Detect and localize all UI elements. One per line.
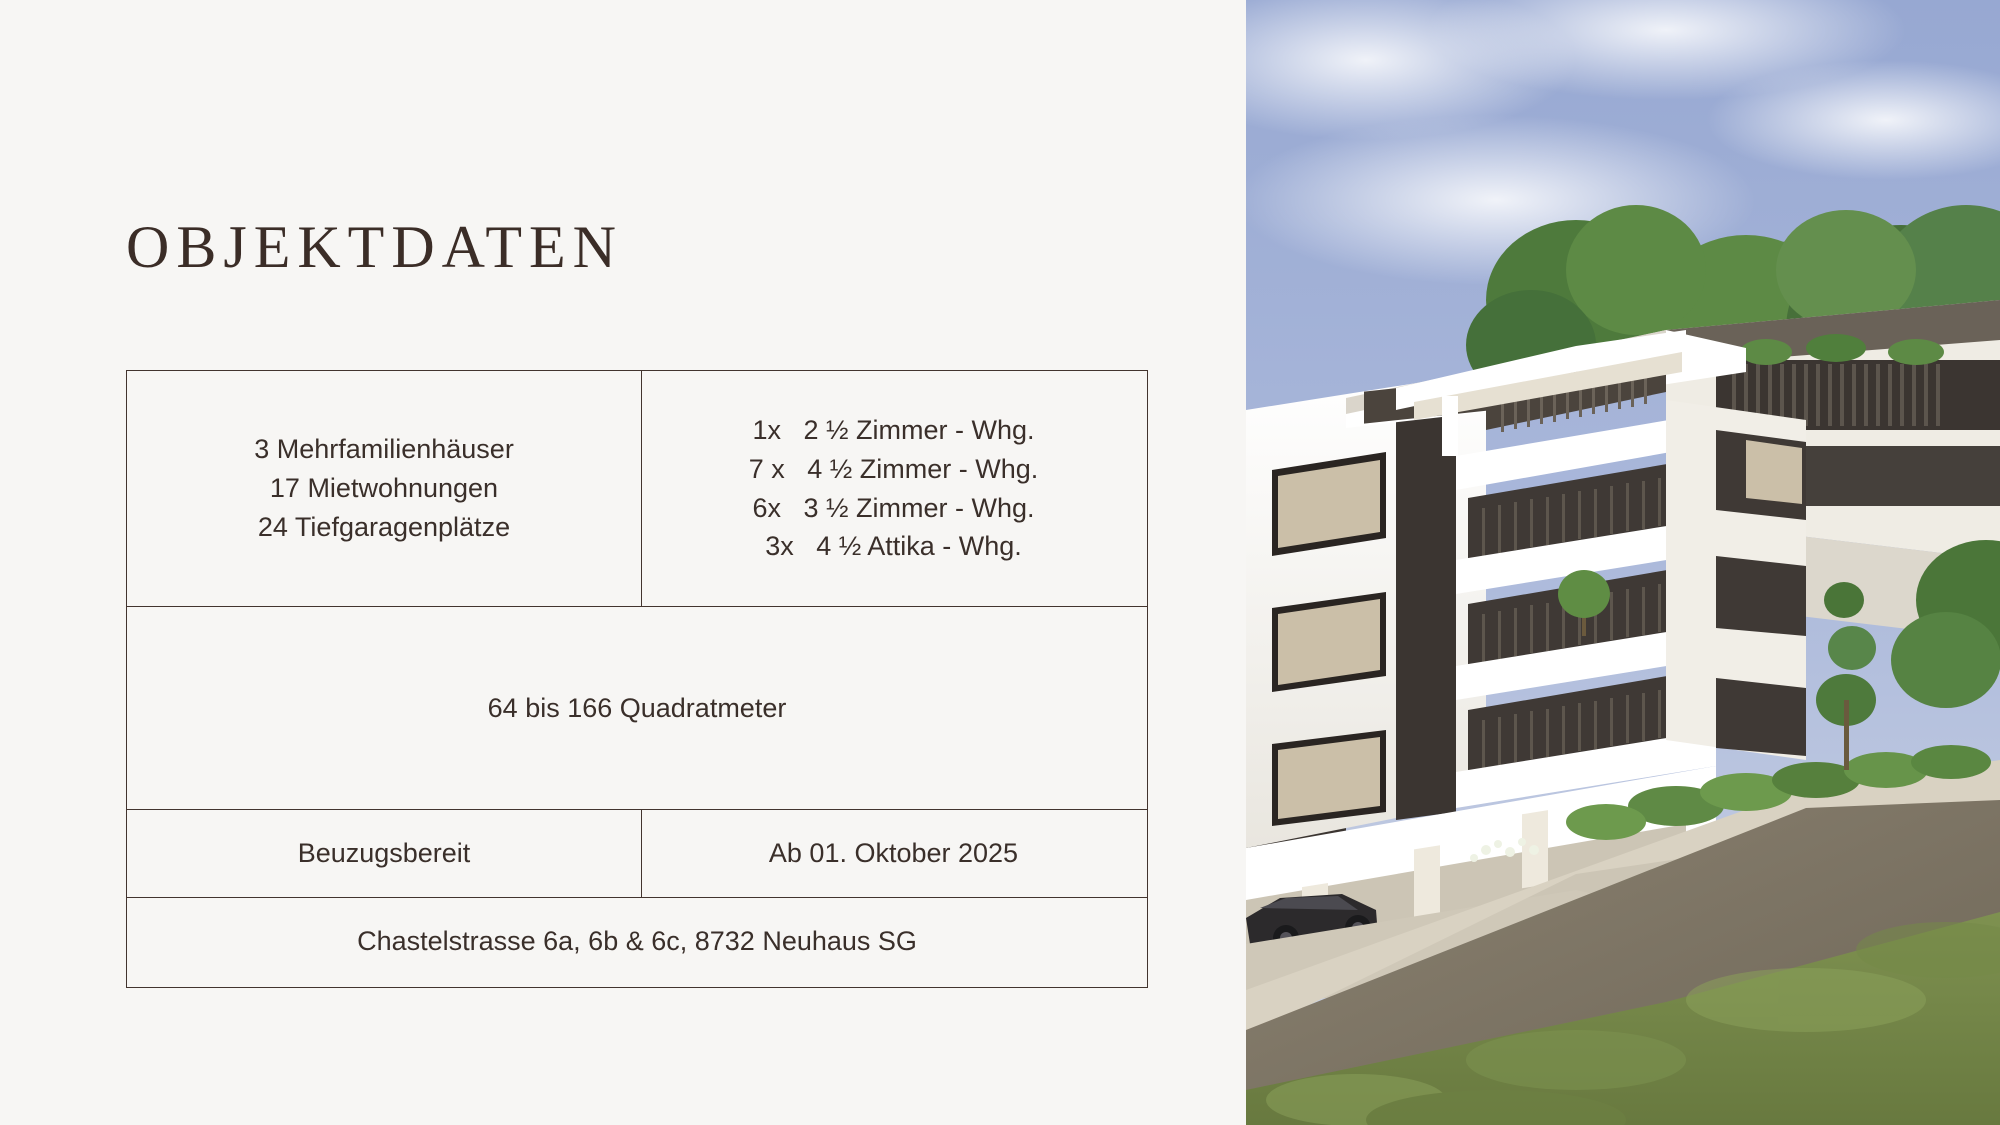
unit-mix-line: 6x 3 ½ Zimmer - Whg. (752, 489, 1034, 528)
table-row: 3 Mehrfamilienhäuser 17 Mietwohnungen 24… (127, 371, 1147, 606)
table-row: Chastelstrasse 6a, 6b & 6c, 8732 Neuhaus… (127, 897, 1147, 985)
building-count-line: 17 Mietwohnungen (270, 469, 498, 508)
building-count-line: 3 Mehrfamilienhäuser (254, 430, 514, 469)
page-title: OBJEKTDATEN (126, 213, 623, 282)
table-row: 64 bis 166 Quadratmeter (127, 606, 1147, 809)
unit-mix-line: 7 x 4 ½ Zimmer - Whg. (749, 450, 1039, 489)
cell-area-range: 64 bis 166 Quadratmeter (127, 607, 1147, 809)
table-row: Beuzugsbereit Ab 01. Oktober 2025 (127, 809, 1147, 897)
objektdaten-table: 3 Mehrfamilienhäuser 17 Mietwohnungen 24… (126, 370, 1148, 988)
window-group-left (1272, 452, 1386, 826)
unit-mix-line: 3x 4 ½ Attika - Whg. (765, 527, 1022, 566)
cell-unit-mix: 1x 2 ½ Zimmer - Whg. 7 x 4 ½ Zimmer - Wh… (641, 371, 1145, 606)
cell-address: Chastelstrasse 6a, 6b & 6c, 8732 Neuhaus… (127, 898, 1147, 985)
project-rendering-photo (1246, 0, 2000, 1125)
unit-mix-line: 1x 2 ½ Zimmer - Whg. (752, 411, 1034, 450)
left-content-panel: OBJEKTDATEN 3 Mehrfamilienhäuser 17 Miet… (0, 0, 1246, 1125)
cell-building-counts: 3 Mehrfamilienhäuser 17 Mietwohnungen 24… (127, 371, 641, 606)
cell-availability-date: Ab 01. Oktober 2025 (641, 810, 1145, 897)
rendering-illustration (1246, 0, 2000, 1125)
building-count-line: 24 Tiefgaragenplätze (258, 508, 510, 547)
cell-availability-label: Beuzugsbereit (127, 810, 641, 897)
